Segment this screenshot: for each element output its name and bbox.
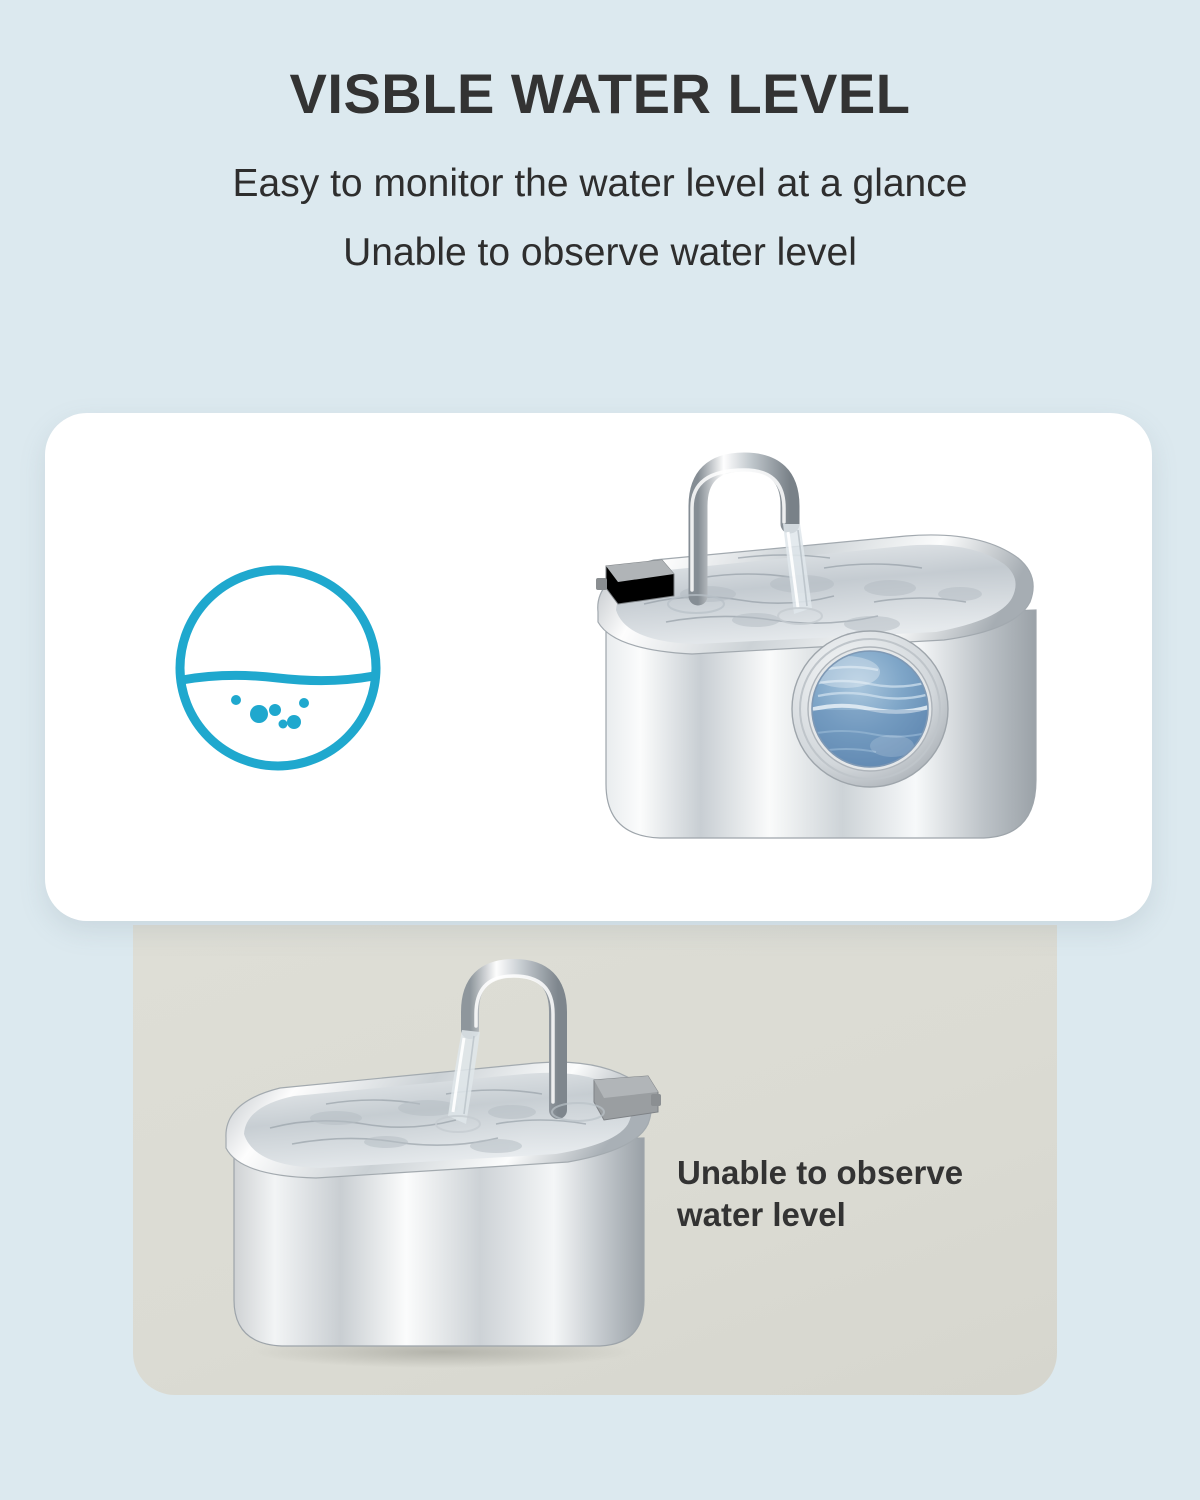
subtitle-good: Easy to monitor the water level at a gla… (0, 164, 1200, 203)
water-level-circle-icon (168, 558, 388, 778)
subtitle-bad: Unable to observe water level (0, 233, 1200, 272)
page-title: VISBLE WATER LEVEL (0, 66, 1200, 122)
product-fountain-with-window (588, 444, 1058, 894)
bad-label-line1: Unable to observe (677, 1154, 963, 1191)
header: VISBLE WATER LEVEL Easy to monitor the w… (0, 0, 1200, 272)
bad-panel-label: Unable to observe water level (677, 1152, 1047, 1236)
product-fountain-without-window (196, 952, 676, 1372)
bad-label-line2: water level (677, 1196, 846, 1233)
